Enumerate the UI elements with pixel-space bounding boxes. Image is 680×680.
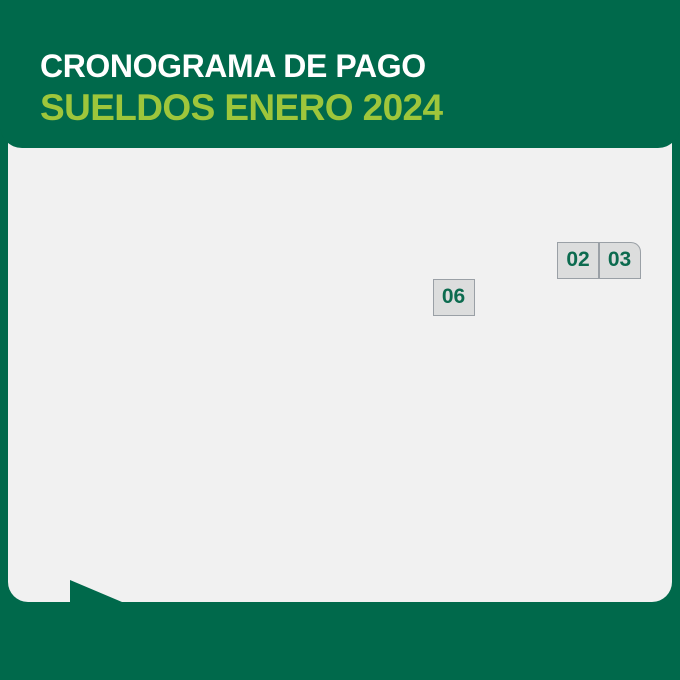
calendar-day-02[interactable]: 02	[557, 242, 599, 280]
page-title: CRONOGRAMA DE PAGO	[40, 50, 426, 82]
header-band: CRONOGRAMA DE PAGO SUELDOS ENERO 2024	[0, 0, 680, 148]
content-card	[8, 140, 672, 602]
footer-notch-shape	[70, 580, 122, 602]
page-subtitle: SUELDOS ENERO 2024	[40, 89, 443, 126]
calendar-day-03[interactable]: 03	[599, 242, 641, 280]
poster-canvas: CRONOGRAMA DE PAGO SUELDOS ENERO 2024 VI…	[0, 0, 680, 680]
calendar-day-06[interactable]: 06	[433, 279, 475, 317]
